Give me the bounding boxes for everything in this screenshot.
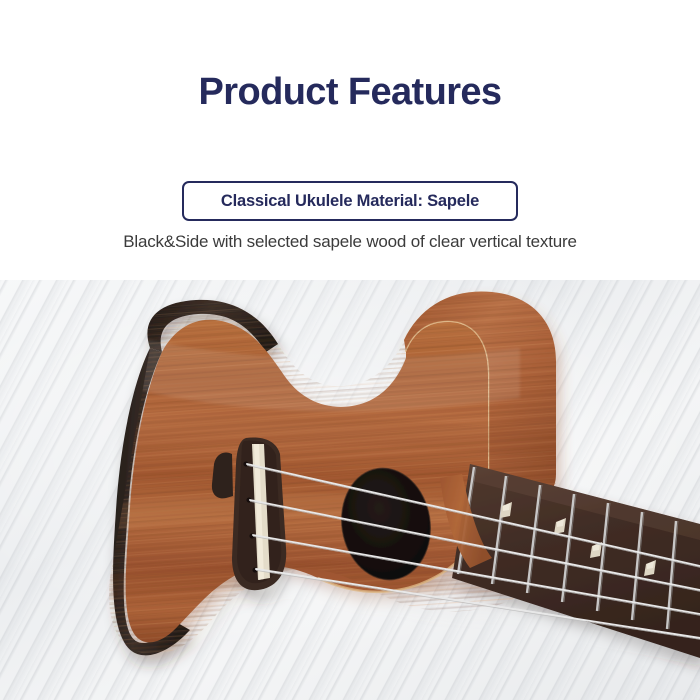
header-section: Product Features Classical Ukulele Mater…: [0, 0, 700, 280]
product-photo: [0, 278, 700, 700]
product-feature-image: Product Features Classical Ukulele Mater…: [0, 0, 700, 700]
fretboard: [452, 464, 700, 658]
material-badge-label: Classical Ukulele Material: Sapele: [221, 192, 479, 211]
page-title: Product Features: [0, 72, 700, 114]
ukulele-illustration: [0, 278, 700, 700]
subtitle-text: Black&Side with selected sapele wood of …: [0, 232, 700, 252]
material-badge: Classical Ukulele Material: Sapele: [182, 181, 518, 221]
